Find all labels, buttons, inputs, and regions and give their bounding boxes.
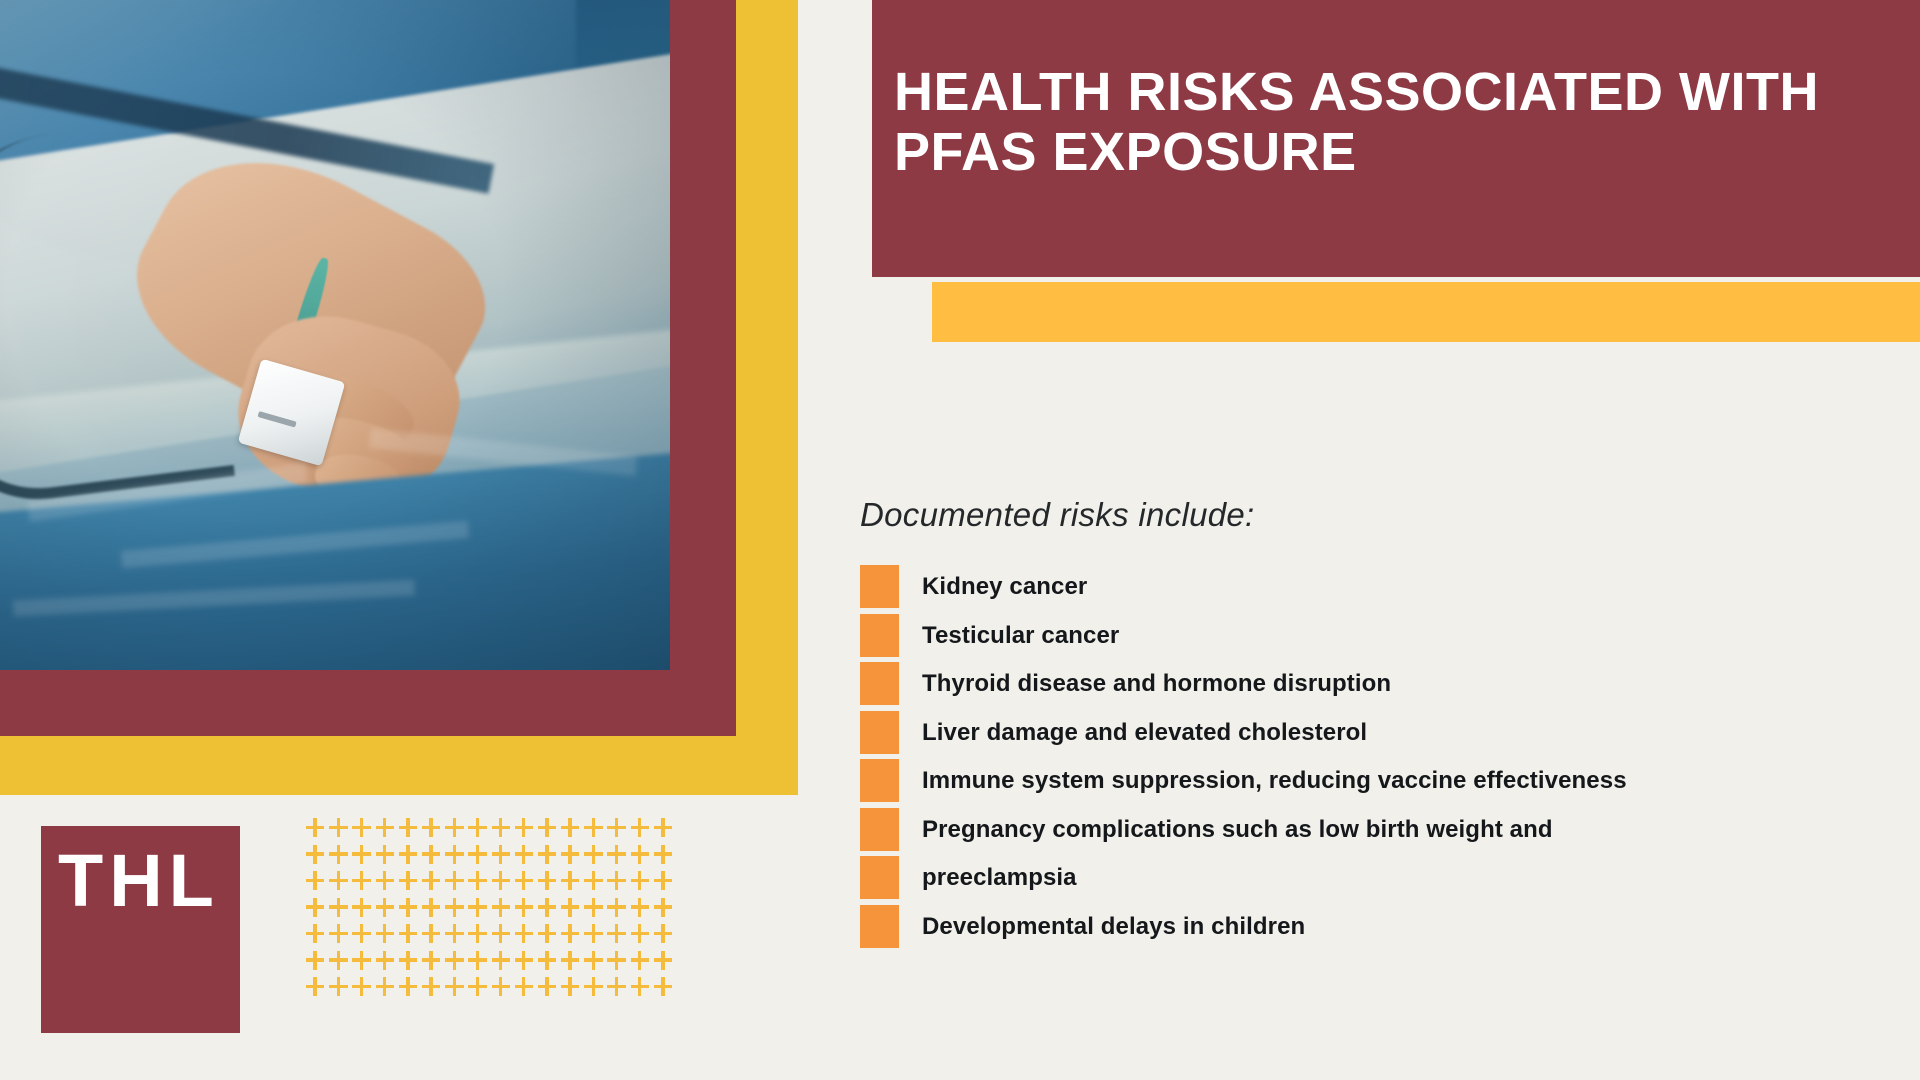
slide-canvas: THL Health Risks Associated with PFAS Ex… [0,0,1920,1080]
risk-list-item: Immune system suppression, reducing vacc… [860,759,1900,808]
plus-icon [538,871,561,898]
plus-icon [607,898,630,925]
photo-vignette [0,0,670,670]
plus-icon [422,924,445,951]
plus-icon [492,871,515,898]
plus-icon [561,924,584,951]
plus-icon [468,977,491,1004]
plus-icon [584,977,607,1004]
plus-icon [352,871,375,898]
plus-icon [631,898,654,925]
plus-icon [584,871,607,898]
plus-icon [607,818,630,845]
square-bullet-icon [860,856,899,899]
plus-pattern-grid [306,818,677,1004]
plus-icon [515,845,538,872]
lead-in-text: Documented risks include: [860,496,1255,534]
plus-icon [607,924,630,951]
plus-icon [631,871,654,898]
plus-icon [422,951,445,978]
risk-list: Kidney cancerTesticular cancerThyroid di… [860,565,1900,953]
plus-icon [607,845,630,872]
plus-icon [306,818,329,845]
square-bullet-icon [860,565,899,608]
plus-icon [445,898,468,925]
plus-icon [399,845,422,872]
risk-list-item-label: Thyroid disease and hormone disruption [922,662,1391,705]
plus-icon [329,845,352,872]
plus-icon [492,845,515,872]
risk-list-item: Testicular cancer [860,614,1900,663]
plus-icon [422,977,445,1004]
plus-icon [584,845,607,872]
plus-icon [515,898,538,925]
plus-icon [654,898,677,925]
plus-icon [561,951,584,978]
plus-icon [306,977,329,1004]
page-title: Health Risks Associated with PFAS Exposu… [894,62,1904,183]
square-bullet-icon [860,759,899,802]
plus-icon [422,845,445,872]
plus-icon [654,845,677,872]
plus-icon [422,871,445,898]
plus-icon [376,898,399,925]
plus-icon [468,898,491,925]
plus-icon [515,951,538,978]
plus-icon [329,871,352,898]
plus-icon [422,818,445,845]
plus-icon [468,951,491,978]
plus-icon [607,871,630,898]
plus-icon [538,845,561,872]
plus-icon [654,924,677,951]
plus-icon [399,977,422,1004]
plus-icon [492,977,515,1004]
plus-icon [492,818,515,845]
plus-icon [376,818,399,845]
plus-icon [329,898,352,925]
square-bullet-icon [860,808,899,851]
plus-icon [376,977,399,1004]
plus-icon [631,845,654,872]
plus-icon [561,977,584,1004]
plus-icon [352,845,375,872]
risk-list-item-label: Developmental delays in children [922,905,1305,948]
plus-icon [306,845,329,872]
plus-icon [352,951,375,978]
plus-icon [492,924,515,951]
risk-list-item-label: Kidney cancer [922,565,1087,608]
plus-icon [445,818,468,845]
plus-icon [584,898,607,925]
plus-icon [561,845,584,872]
hospital-patient-photo [0,0,670,670]
plus-icon [584,951,607,978]
plus-icon [631,977,654,1004]
square-bullet-icon [860,905,899,948]
risk-list-item: Liver damage and elevated cholesterol [860,711,1900,760]
square-bullet-icon [860,662,899,705]
thl-logo-text: THL [58,844,220,918]
plus-icon [306,898,329,925]
plus-icon [538,951,561,978]
plus-icon [422,898,445,925]
plus-icon [468,871,491,898]
plus-icon [376,871,399,898]
risk-list-item: Thyroid disease and hormone disruption [860,662,1900,711]
plus-icon [538,977,561,1004]
plus-icon [445,924,468,951]
plus-icon [515,924,538,951]
plus-icon [654,977,677,1004]
plus-icon [376,845,399,872]
risk-list-item-label: Testicular cancer [922,614,1119,657]
plus-icon [376,924,399,951]
plus-icon [352,924,375,951]
plus-icon [631,924,654,951]
plus-icon [538,924,561,951]
plus-icon [399,951,422,978]
plus-icon [538,898,561,925]
plus-icon [631,818,654,845]
plus-icon [329,818,352,845]
plus-icon [538,818,561,845]
risk-list-item-label: Immune system suppression, reducing vacc… [922,759,1627,802]
plus-icon [654,951,677,978]
square-bullet-icon [860,711,899,754]
plus-icon [329,924,352,951]
risk-list-item-label: preeclampsia [922,856,1077,899]
plus-icon [306,951,329,978]
plus-icon [399,871,422,898]
plus-icon [445,845,468,872]
plus-icon [329,977,352,1004]
plus-icon [468,845,491,872]
plus-icon [561,871,584,898]
plus-icon [445,977,468,1004]
plus-icon [468,924,491,951]
plus-icon [607,977,630,1004]
plus-icon [584,818,607,845]
plus-icon [352,818,375,845]
plus-icon [352,898,375,925]
title-banner: Health Risks Associated with PFAS Exposu… [872,0,1920,277]
plus-icon [468,818,491,845]
plus-icon [515,871,538,898]
plus-icon [329,951,352,978]
plus-icon [561,818,584,845]
plus-icon [561,898,584,925]
plus-icon [584,924,607,951]
plus-icon [376,951,399,978]
risk-list-item-label: Liver damage and elevated cholesterol [922,711,1367,754]
plus-icon [306,871,329,898]
plus-icon [631,951,654,978]
plus-icon [654,818,677,845]
plus-icon [607,951,630,978]
plus-icon [492,951,515,978]
risk-list-item: Developmental delays in children [860,905,1900,954]
plus-icon [515,818,538,845]
plus-icon [492,898,515,925]
title-accent-bar [932,282,1920,342]
plus-icon [515,977,538,1004]
plus-icon [306,924,329,951]
thl-logo: THL [41,826,240,1033]
plus-icon [399,818,422,845]
plus-icon [445,951,468,978]
risk-list-item: Pregnancy complications such as low birt… [860,808,1900,857]
risk-list-item: Kidney cancer [860,565,1900,614]
plus-icon [654,871,677,898]
plus-icon [399,898,422,925]
risk-list-item-label: Pregnancy complications such as low birt… [922,808,1553,851]
square-bullet-icon [860,614,899,657]
plus-icon [445,871,468,898]
plus-icon [352,977,375,1004]
plus-icon [399,924,422,951]
risk-list-item: preeclampsia [860,856,1900,905]
